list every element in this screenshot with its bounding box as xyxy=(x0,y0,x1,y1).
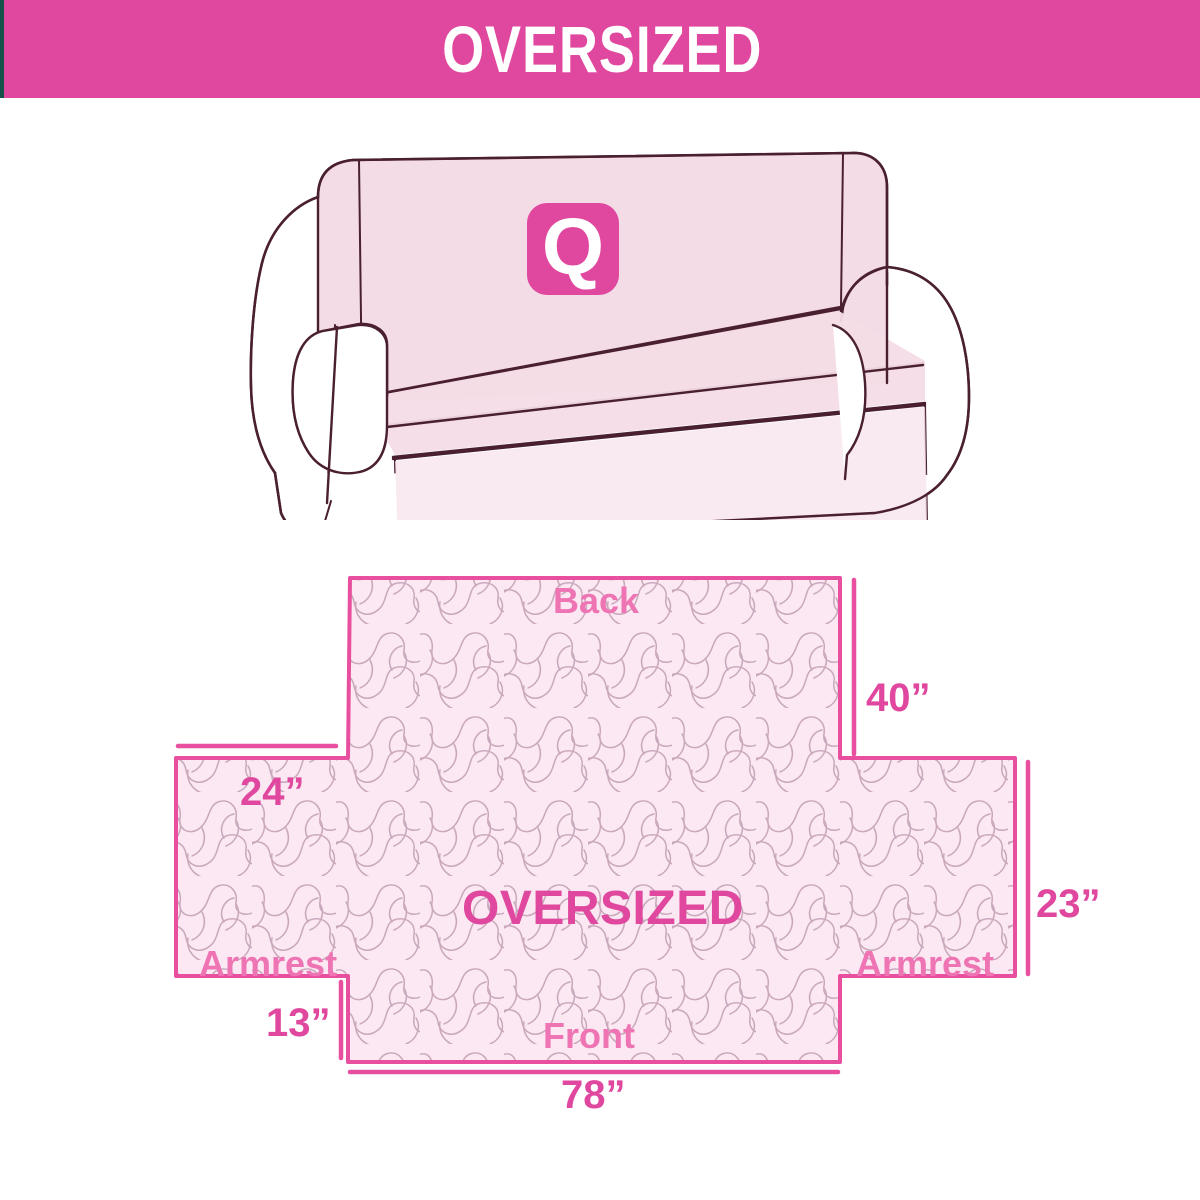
dimension-label-back-height: 40” xyxy=(866,678,931,718)
size-name-label: OVERSIZED xyxy=(462,885,744,933)
page-title: OVERSIZED xyxy=(442,16,762,82)
sofa-illustration xyxy=(235,135,995,520)
dimension-label-armrest-width: 24” xyxy=(240,772,305,812)
dimension-label-armrest-height: 23” xyxy=(1036,884,1101,924)
dimension-label-front-width: 78” xyxy=(561,1075,626,1115)
brand-logo-badge: Q xyxy=(527,203,619,295)
panel-label-front: Front xyxy=(543,1018,635,1054)
panel-label-armrest-left: Armrest xyxy=(199,946,337,982)
panel-label-armrest-right: Armrest xyxy=(856,946,994,982)
brand-logo-letter: Q xyxy=(542,207,604,287)
dimension-label-front-height: 13” xyxy=(266,1003,331,1043)
panel-label-back: Back xyxy=(553,583,639,619)
product-size-chart-page: OVERSIZED xyxy=(0,0,1200,1200)
slipcover-panel-shape xyxy=(176,578,1015,1062)
header-banner: OVERSIZED xyxy=(0,0,1200,98)
